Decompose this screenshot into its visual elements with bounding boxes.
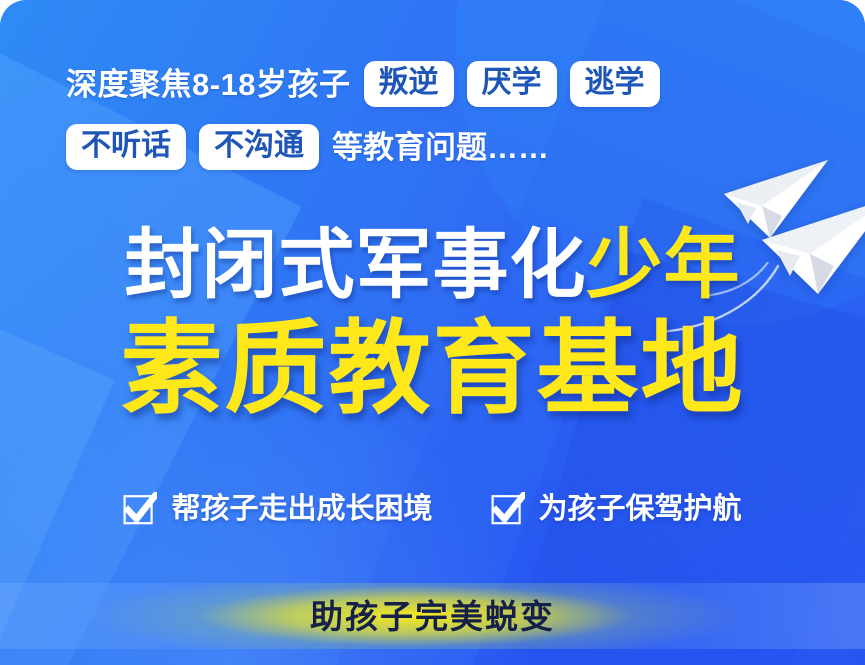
headline-yellow-part: 少年 — [587, 223, 741, 308]
feature-label: 帮孩子走出成长困境 — [171, 495, 432, 524]
tag-pill-disobedient[interactable]: 不听话 — [66, 124, 186, 170]
feature-item: 为孩子保驾护航 — [491, 492, 742, 526]
promo-banner: 深度聚焦8-18岁孩子 叛逆 厌学 逃学 不听话 不沟通 等教育问题…… 封闭式… — [0, 0, 865, 665]
headline-line-1: 封闭式军事化少年 — [0, 228, 865, 304]
top-text-block: 深度聚焦8-18岁孩子 叛逆 厌学 逃学 不听话 不沟通 等教育问题…… — [66, 58, 806, 173]
top-line-2: 不听话 不沟通 等教育问题…… — [66, 121, 806, 173]
tag-pill-school-aversion[interactable]: 厌学 — [467, 61, 557, 107]
tag-pill-rebellious[interactable]: 叛逆 — [364, 61, 454, 107]
headline-white-part: 封闭式军事化 — [125, 223, 587, 308]
headline-block: 封闭式军事化少年 素质教育基地 — [0, 228, 865, 420]
headline-line-2: 素质教育基地 — [0, 318, 865, 420]
feature-label: 为孩子保驾护航 — [539, 495, 742, 524]
bottom-slogan-text: 助孩子完美蜕变 — [310, 600, 555, 633]
checkbox-check-icon — [491, 492, 525, 526]
education-issues-text: 等教育问题…… — [332, 132, 549, 163]
focus-age-text: 深度聚焦8-18岁孩子 — [66, 69, 351, 100]
feature-list: 帮孩子走出成长困境 为孩子保驾护航 — [0, 492, 865, 526]
tag-pill-truancy[interactable]: 逃学 — [570, 61, 660, 107]
feature-item: 帮孩子走出成长困境 — [123, 492, 432, 526]
top-line-1: 深度聚焦8-18岁孩子 叛逆 厌学 逃学 — [66, 58, 806, 110]
tag-pill-no-communication[interactable]: 不沟通 — [199, 124, 319, 170]
checkbox-check-icon — [123, 492, 157, 526]
bottom-slogan-band: 助孩子完美蜕变 — [0, 583, 865, 649]
